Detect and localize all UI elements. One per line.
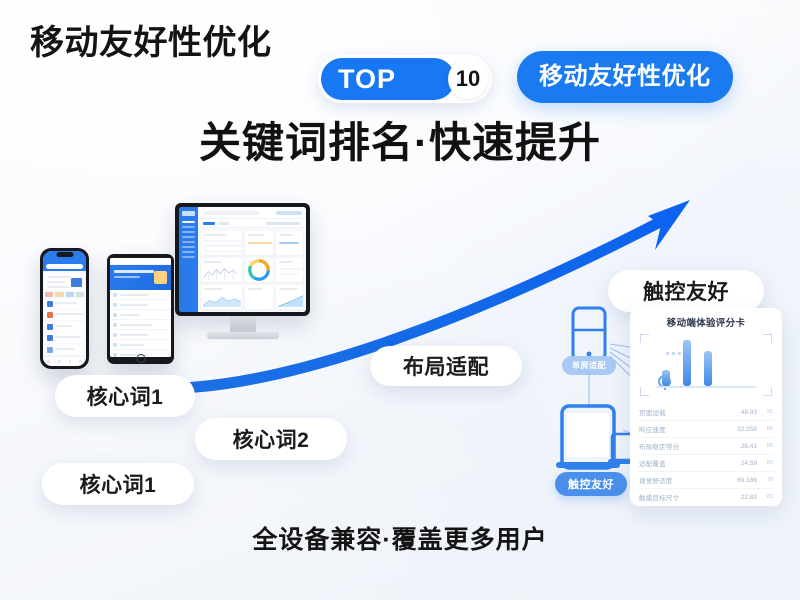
dashboard-logo [182,211,195,216]
scorecard-title: 移动端体验评分卡 [630,308,782,334]
phone-screen [43,251,86,366]
phone-search-bar [43,264,86,271]
phone-list-item [45,299,84,309]
phone-list-item [45,345,84,355]
tablet-home-button [136,354,145,363]
dashboard-body [198,207,306,312]
scorecard-row: 页面加载 48.93 91 [639,404,773,421]
callout-layout-adaptation: 布局适配 [370,346,522,386]
scorecard-bar [683,340,691,386]
scorecard-row-value: 22.83 [731,494,757,501]
illustration-chip-touch-friendly: 触控友好 [555,472,627,496]
scorecard-row-name: 响应速度 [639,424,731,434]
phone-list-item [45,310,84,320]
scorecard-row: 触摸目标尺寸 22.83 83 [639,489,773,505]
keyword-pill: 核心词2 [195,418,347,460]
scorecard-row-name: 适配覆盖 [639,458,731,468]
dashboard-nav-item [182,221,195,223]
phone-feature-card [45,273,84,290]
phone-category-chips [43,292,86,297]
dashboard-tabstrip [198,219,306,228]
poster-canvas: 移动友好性优化 TOP 10 移动友好性优化 关键词排名·快速提升 [0,0,800,600]
tablet-mockup [107,254,174,364]
scorecard-row-name: 布局稳定得分 [639,441,731,451]
scorecard-row-score: 80 [757,460,773,466]
scorecard-baseline [656,386,756,388]
scorecard-row-value: 32.258 [731,426,757,433]
dashboard-area-card [276,285,303,309]
footer-tagline: 全设备兼容·覆盖更多用户 [0,528,800,553]
dashboard-nav-item [182,246,195,248]
area-chart-icon [278,293,303,307]
keyword-pill: 核心词1 [55,375,195,417]
dashboard-sidebar [179,207,198,312]
phone-mockup [40,248,89,369]
scorecard-row-score: 85 [757,426,773,432]
scorecard-row-value: 24.59 [731,460,757,467]
phone-tabbar [43,356,86,366]
mobile-scorecard: 移动端体验评分卡 页面加载 48.93 91 [630,308,782,506]
scorecard-row-score: 83 [757,494,773,500]
dashboard-toolbar-icons [276,211,302,215]
scorecard-row-value: 48.93 [731,409,757,416]
monitor-bezel [175,203,310,316]
mobile-experience-illustration: 单屏适配 触控友好 移动端体验评分卡 页面加载 48.93 [548,300,788,515]
scorecard-row-name: 视觉舒适度 [639,475,731,485]
scorecard-chart [640,334,772,396]
scorecard-row-name: 触摸目标尺寸 [639,492,731,502]
dashboard-card [276,231,303,255]
scorecard-row-name: 页面加载 [639,407,731,417]
dashboard-tab [219,222,229,225]
tablet-list-item [110,300,171,310]
tablet-list-item [110,330,171,340]
desktop-monitor-mockup [175,203,310,343]
tablet-list-item [110,340,171,350]
monitor-screen [179,207,306,312]
dashboard-nav-item [182,236,195,238]
dashboard-tab [203,222,215,225]
tablet-list-item [110,290,171,300]
illustration-chip-screen-fit: 单屏适配 [562,356,616,375]
phone-statusbar [43,251,86,264]
tablet-screen [110,258,171,357]
donut-chart-icon [248,259,270,281]
dashboard-nav-item [182,241,195,243]
scorecard-row: 布局稳定得分 26.41 88 [639,438,773,455]
scorecard-metric-list: 页面加载 48.93 91 响应速度 32.258 85 布局稳定得分 26.4… [639,404,773,505]
dashboard-card [245,231,272,255]
scorecard-row: 视觉舒适度 69.186 78 [639,472,773,489]
scorecard-row-score: 88 [757,443,773,449]
line-chart-icon [203,266,238,280]
tablet-list-item [110,310,171,320]
dashboard-search-field [203,211,259,215]
dashboard-area-card [201,285,242,309]
area-chart-icon [203,293,241,307]
dashboard-topbar [198,207,306,219]
dashboard-nav-item [182,231,195,233]
scorecard-row-value: 69.186 [731,477,757,484]
dashboard-donut-card [245,258,272,282]
phone-notch [56,252,73,257]
scorecard-row-score: 91 [757,409,773,415]
tablet-list-item [110,320,171,330]
dashboard-card-grid [198,228,306,312]
dashboard-tab [266,222,300,225]
dashboard-nav-item [182,256,195,258]
keyword-pill: 核心词1 [42,463,194,505]
scorecard-row-score: 78 [757,477,773,483]
scorecard-bars [662,340,758,386]
monitor-stand-base [207,332,279,339]
phone-card-thumbnail [71,278,82,287]
scorecard-row-value: 26.41 [731,443,757,450]
dashboard-card [276,258,303,282]
phone-list-item [45,322,84,332]
dashboard-card [201,231,242,255]
scorecard-bar [704,351,712,386]
dashboard-nav-item [182,251,195,253]
scorecard-bar [662,370,670,386]
tablet-hero-banner [110,265,171,290]
dashboard-card [245,285,272,309]
dashboard-chart-card [201,258,242,282]
scorecard-row: 适配覆盖 24.59 80 [639,455,773,472]
phone-list-item [45,333,84,343]
scorecard-row: 响应速度 32.258 85 [639,421,773,438]
tablet-statusbar [110,258,171,265]
dashboard-nav-item [182,226,195,228]
monitor-stand-neck [230,316,256,333]
